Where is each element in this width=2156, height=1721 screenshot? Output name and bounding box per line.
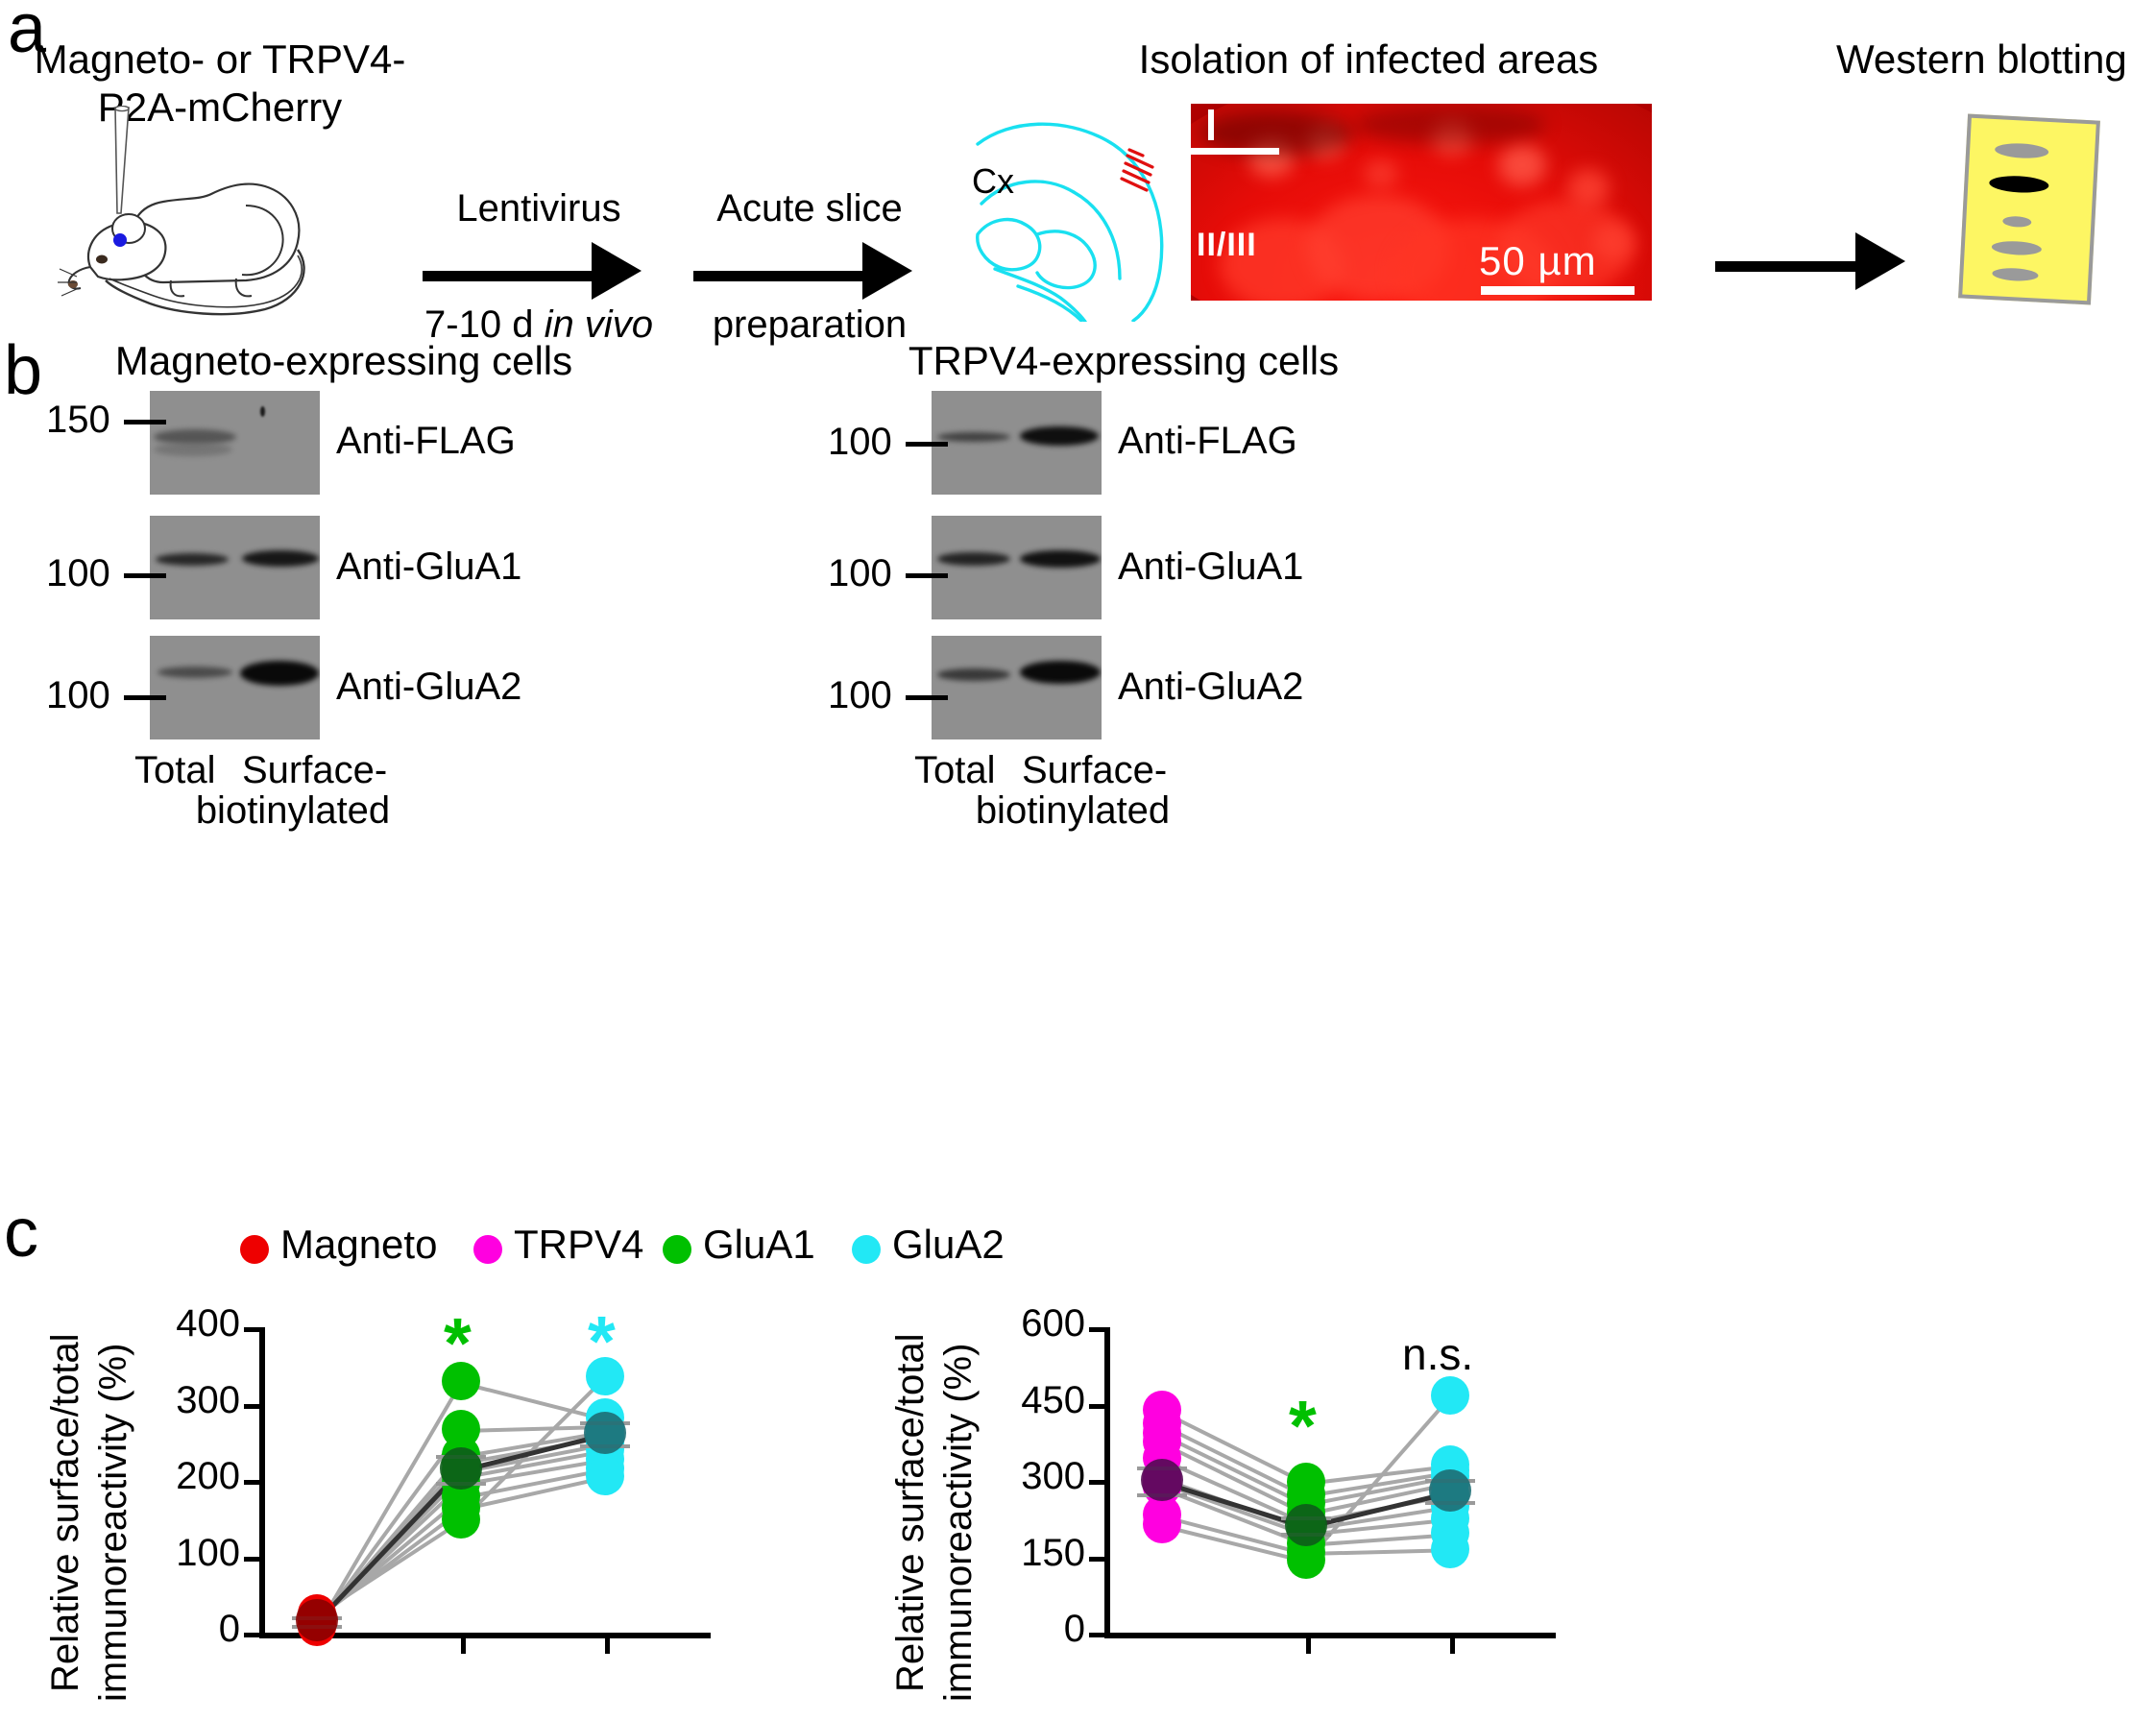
x-axis: [1104, 1633, 1556, 1638]
magneto-blot-title: Magneto-expressing cells: [75, 338, 613, 384]
y-tick: [1089, 1404, 1106, 1409]
mean-marker-glua1: [440, 1447, 482, 1490]
arrow-lentivirus: [423, 248, 653, 305]
mouse-illustration: [58, 106, 375, 317]
membrane-illustration: [1958, 114, 2100, 305]
mw-value: 100: [828, 421, 892, 463]
x-tick: [605, 1638, 610, 1654]
data-point-glua2: [1431, 1530, 1469, 1568]
mean-marker-glua2: [1429, 1469, 1471, 1512]
isolation-title: Isolation of infected areas: [1061, 36, 1676, 83]
scale-bar: [1481, 286, 1635, 295]
legend-label-magneto: Magneto: [280, 1222, 437, 1268]
y-tick: [1089, 1557, 1106, 1562]
construct-label-line1: Magneto- or TRPV4-: [13, 36, 426, 83]
y-axis-title-line2: immunoreactivity (%): [937, 1344, 981, 1702]
significance-ns: n.s.: [1402, 1328, 1473, 1380]
legend-label-glua2: GluA2: [892, 1222, 1005, 1268]
lane-label-biotinylated-right: biotinylated: [914, 789, 1231, 832]
data-point-trpv4: [1143, 1505, 1181, 1543]
significance-asterisk: *: [588, 1306, 616, 1377]
layer-2-3-label: II/III: [1197, 227, 1257, 264]
western-blotting-title: Western blotting: [1836, 36, 2156, 83]
acute-slice-label: Acute slice: [690, 187, 930, 230]
data-point-glua2: [586, 1457, 624, 1495]
lane-label-surface-left: Surface-: [242, 749, 387, 791]
scalebar-label: 50 µm: [1479, 238, 1597, 284]
y-tick: [244, 1480, 261, 1485]
antibody-label-trpv4-glua1: Anti-GluA1: [1118, 545, 1303, 589]
legend-label-glua1: GluA1: [703, 1222, 815, 1268]
mw-value: 100: [46, 552, 110, 594]
blot-magneto-flag: [150, 391, 320, 495]
mean-marker-glua1: [1285, 1504, 1327, 1546]
antibody-label-magneto-glua2: Anti-GluA2: [336, 666, 521, 709]
legend-dot-glua1: [663, 1235, 691, 1264]
legend-dot-glua2: [852, 1235, 881, 1264]
paired-connector: [1306, 1549, 1450, 1557]
blot-trpv4-glua2: [932, 636, 1102, 739]
y-axis-title: Relative surface/total: [889, 1333, 933, 1692]
mw-marker-trpv4-flag: 100: [828, 421, 948, 464]
legend-dot-trpv4: [473, 1235, 502, 1264]
y-tick-label: 400: [77, 1302, 240, 1345]
mw-marker-trpv4-glua2: 100: [828, 674, 948, 717]
arrow-to-western-blot: [1715, 238, 1907, 296]
panel-c-letter: c: [4, 1199, 38, 1268]
antibody-label-magneto-flag: Anti-FLAG: [336, 420, 516, 463]
data-point-glua1: [442, 1500, 480, 1539]
lane-label-total-left: Total: [134, 749, 216, 791]
significance-asterisk: *: [444, 1308, 472, 1379]
x-tick: [461, 1638, 466, 1654]
lentivirus-label: Lentivirus: [419, 187, 659, 230]
y-tick-label: 600: [922, 1302, 1085, 1345]
y-axis-title-line2: immunoreactivity (%): [92, 1344, 135, 1702]
y-tick: [244, 1404, 261, 1409]
mw-value: 100: [828, 552, 892, 594]
mean-marker-magneto: [296, 1599, 338, 1641]
y-tick: [1089, 1633, 1106, 1637]
magneto-chart: 0100200300400Relative surface/totalimmun…: [0, 1306, 730, 1721]
blot-magneto-glua2: [150, 636, 320, 739]
mw-marker-magneto-flag: 150: [46, 399, 166, 442]
cortex-label: Cx: [972, 161, 1014, 202]
panel-b-letter: b: [4, 336, 42, 405]
mw-marker-trpv4-glua1: 100: [828, 552, 948, 595]
mean-marker-trpv4: [1141, 1459, 1183, 1501]
paired-connector: [1161, 1411, 1307, 1486]
mean-marker-glua2: [584, 1412, 626, 1454]
paired-connector: [315, 1469, 463, 1625]
blot-magneto-glua1: [150, 516, 320, 619]
y-tick: [244, 1633, 261, 1637]
mw-value: 100: [828, 674, 892, 716]
layer-1-mark: [1208, 109, 1214, 140]
y-tick: [244, 1557, 261, 1562]
y-tick: [244, 1327, 261, 1332]
y-axis-title: Relative surface/total: [44, 1333, 87, 1692]
x-tick: [1306, 1638, 1311, 1654]
trpv4-blot-title: TRPV4-expressing cells: [855, 338, 1393, 384]
legend-dot-magneto: [240, 1235, 269, 1264]
arrow-acute-slice: [693, 248, 924, 305]
blot-trpv4-glua1: [932, 516, 1102, 619]
mw-value: 150: [46, 399, 110, 441]
data-point-glua2: [1431, 1376, 1469, 1415]
lane-label-biotinylated-left: biotinylated: [134, 789, 451, 832]
mw-value: 100: [46, 674, 110, 716]
mw-marker-magneto-glua1: 100: [46, 552, 166, 595]
legend-label-trpv4: TRPV4: [514, 1222, 643, 1268]
blot-trpv4-flag: [932, 391, 1102, 495]
antibody-label-magneto-glua1: Anti-GluA1: [336, 545, 521, 589]
antibody-label-trpv4-flag: Anti-FLAG: [1118, 420, 1297, 463]
lane-label-surface-right: Surface-: [1022, 749, 1167, 791]
fluorescence-image: II/III 50 µm: [1191, 104, 1652, 301]
mw-marker-magneto-glua2: 100: [46, 674, 166, 717]
antibody-label-trpv4-glua2: Anti-GluA2: [1118, 666, 1303, 709]
significance-asterisk: *: [1289, 1391, 1317, 1462]
x-tick: [1450, 1638, 1455, 1654]
y-tick: [1089, 1327, 1106, 1332]
layer-boundary-line: [1191, 148, 1279, 155]
trpv4-chart: 0150300450600Relative surface/totalimmun…: [845, 1306, 1575, 1721]
data-point-glua1: [1287, 1540, 1325, 1579]
y-tick: [1089, 1480, 1106, 1485]
lane-label-total-right: Total: [914, 749, 996, 791]
brain-slice-diagram: [960, 115, 1200, 322]
